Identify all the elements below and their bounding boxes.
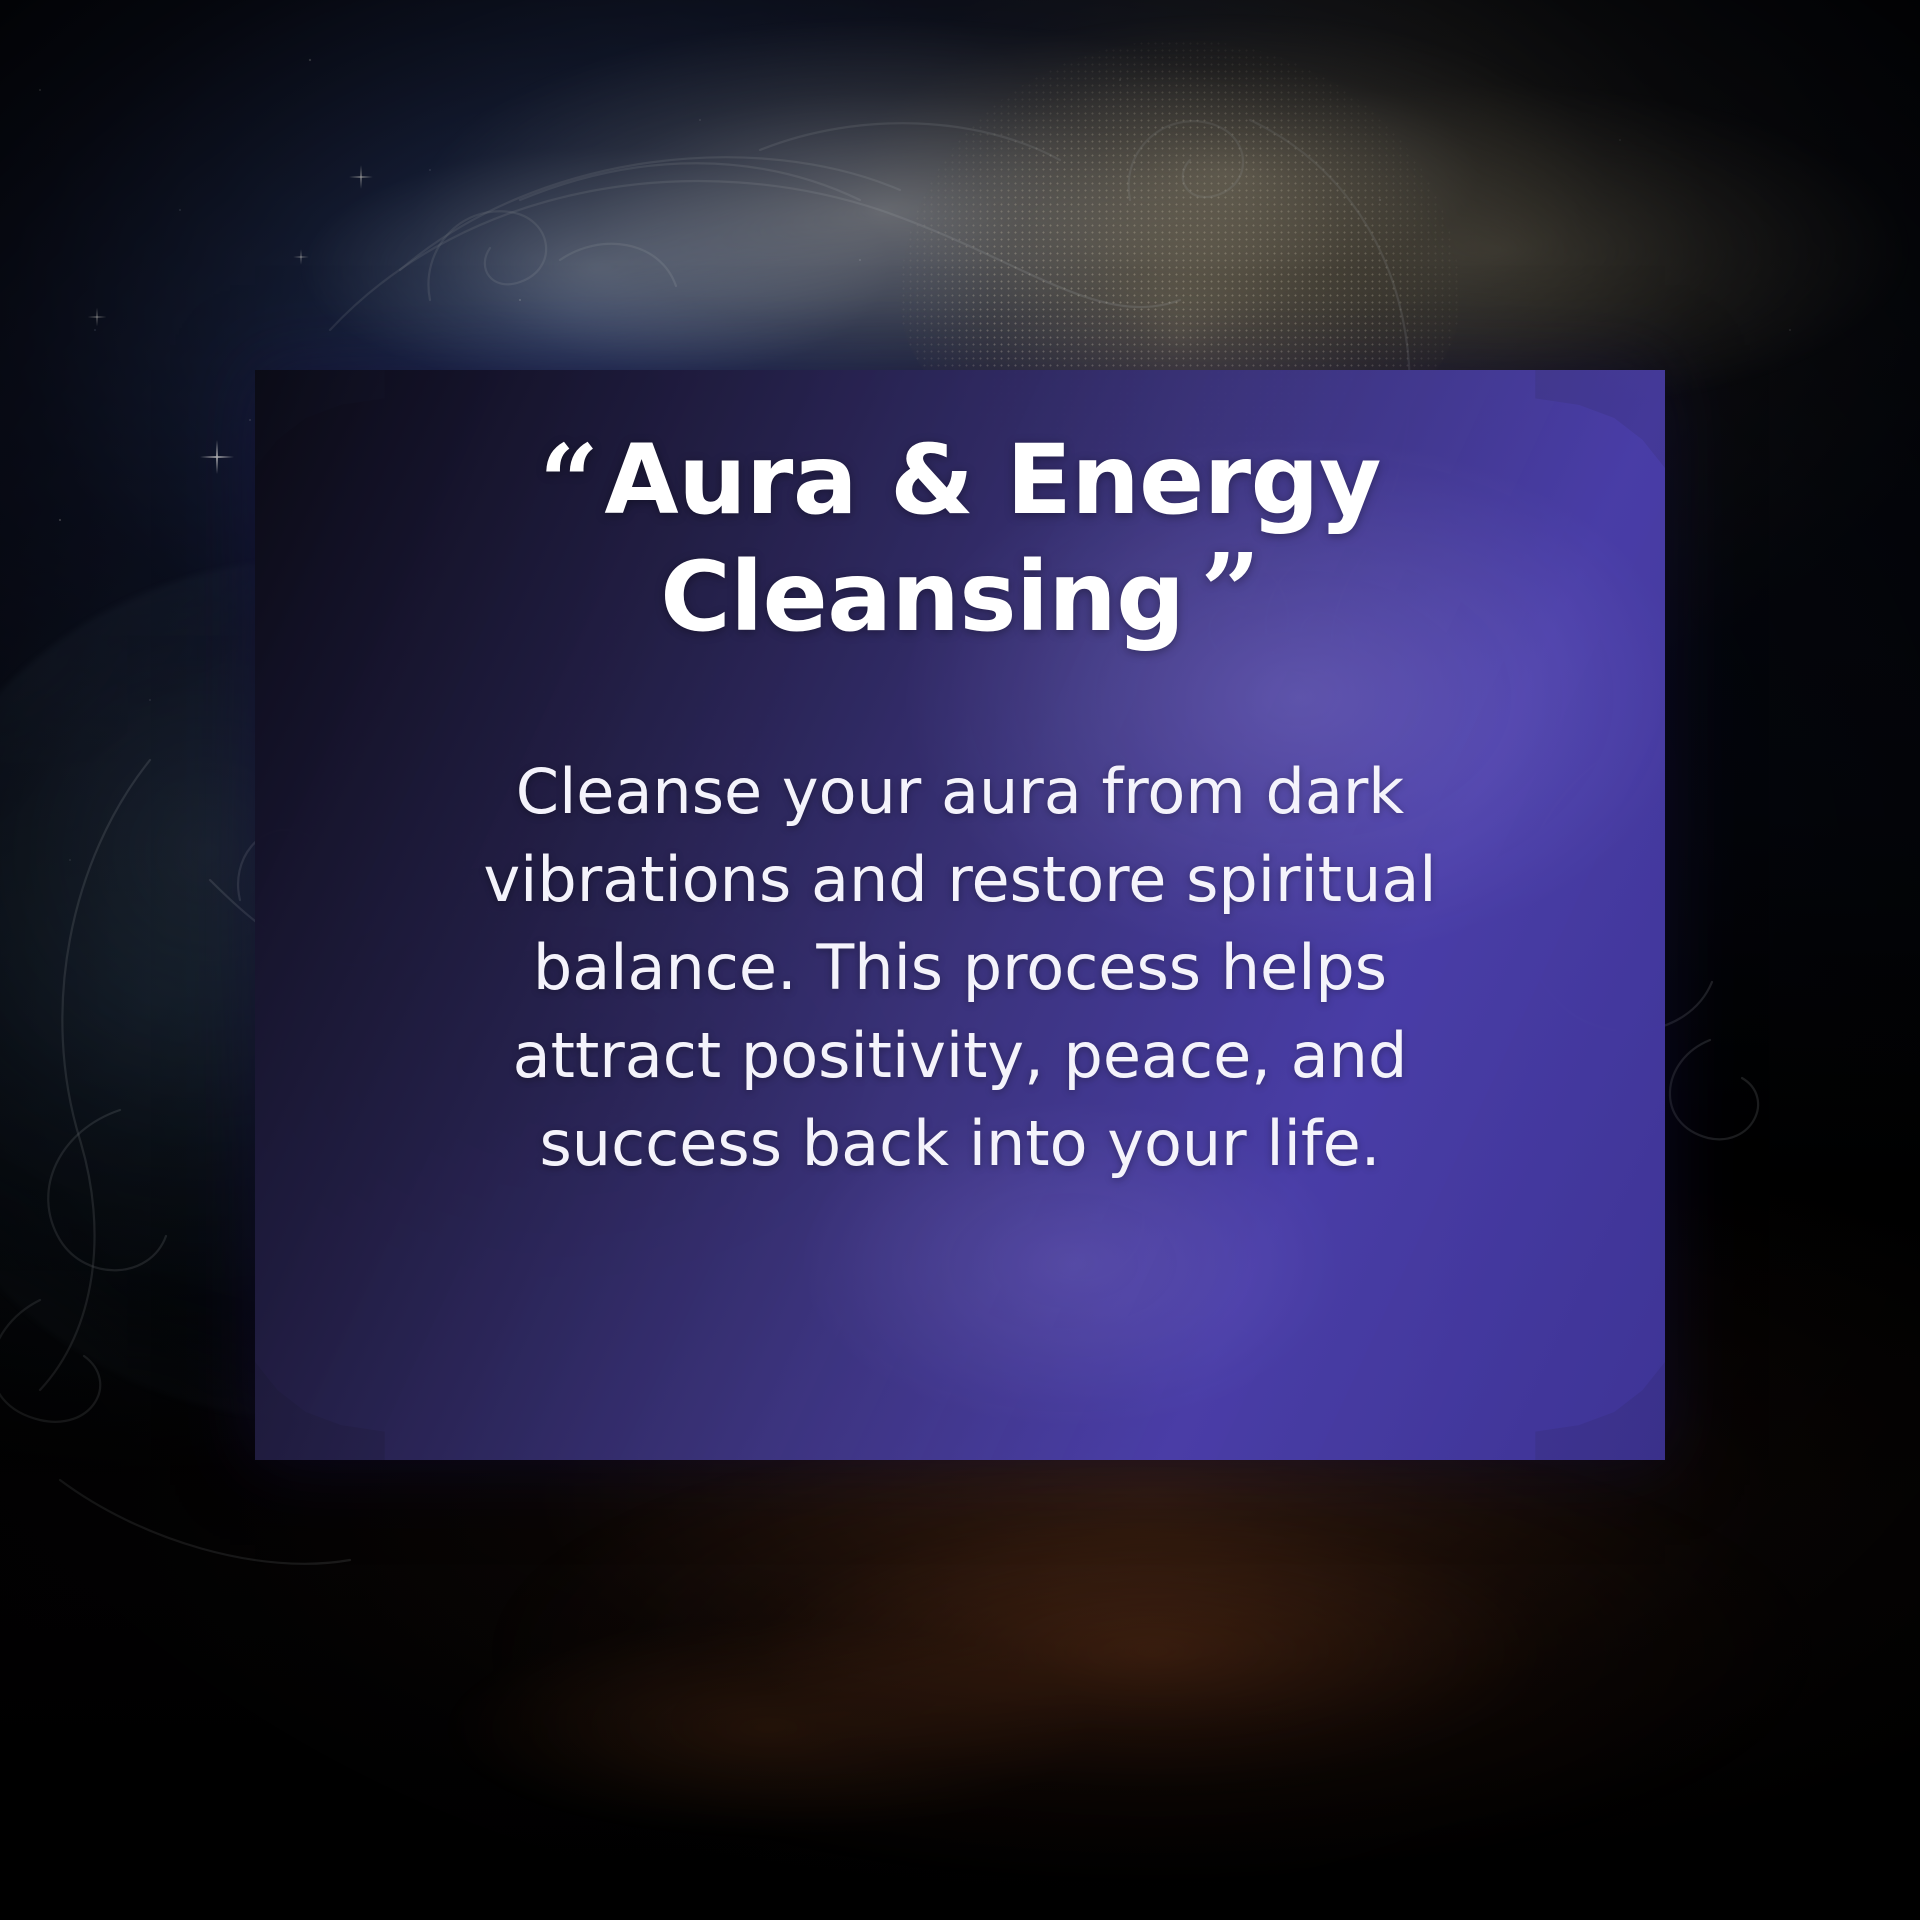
quote-card-plate: “Aura & Energy Cleansing” Cleanse your a…: [255, 370, 1665, 1460]
quote-card-content: “Aura & Energy Cleansing” Cleanse your a…: [255, 370, 1665, 1460]
close-quote-icon: ”: [1200, 530, 1259, 653]
open-quote-icon: “: [539, 421, 598, 544]
quote-body-text: Cleanse your aura from dark vibrations a…: [455, 748, 1465, 1188]
quote-card: “Aura & Energy Cleansing” Cleanse your a…: [255, 370, 1665, 1460]
quote-heading-text: Aura & Energy Cleansing: [604, 424, 1381, 653]
poster-canvas: “Aura & Energy Cleansing” Cleanse your a…: [0, 0, 1920, 1920]
quote-heading: “Aura & Energy Cleansing”: [480, 422, 1440, 656]
